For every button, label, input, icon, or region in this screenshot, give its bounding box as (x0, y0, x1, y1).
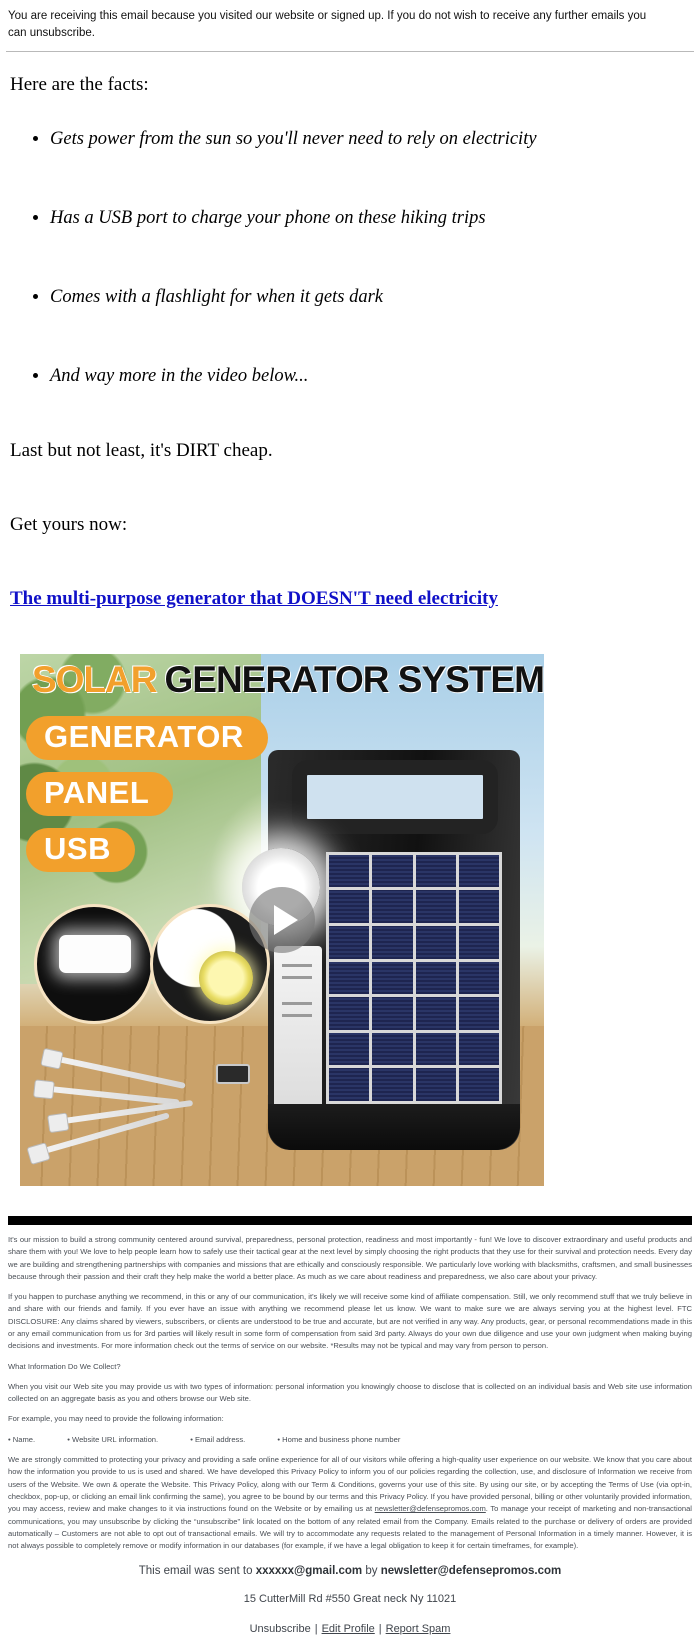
closing-text: Last but not least, it's DIRT cheap. (10, 439, 690, 464)
receiving-notice: You are receiving this email because you… (0, 0, 660, 41)
collect-heading: What Information Do We Collect? (8, 1361, 692, 1373)
sender-email: newsletter@defensepromos.com (381, 1565, 562, 1577)
edit-profile-link[interactable]: Edit Profile (322, 1623, 375, 1635)
play-button-icon[interactable] (249, 887, 315, 953)
header-divider (6, 51, 694, 52)
recipient-email: xxxxxx@gmail.com (256, 1565, 362, 1577)
list-item: Gets power from the sun so you'll never … (50, 128, 690, 151)
privacy-policy-text: We are strongly committed to protecting … (8, 1454, 692, 1552)
link-separator: | (379, 1623, 382, 1635)
list-item: And way more in the video below... (50, 365, 690, 388)
collect-item: • Website URL information. (67, 1435, 158, 1444)
report-spam-link[interactable]: Report Spam (386, 1623, 451, 1635)
facts-list: Gets power from the sun so you'll never … (10, 128, 690, 389)
list-item: Comes with a flashlight for when it gets… (50, 286, 690, 309)
footer-links: Unsubscribe|Edit Profile|Report Spam (0, 1623, 700, 1635)
solar-panel-grid (326, 852, 502, 1104)
link-separator: | (315, 1623, 318, 1635)
unit-base (268, 1104, 520, 1150)
example-intro: For example, you may need to provide the… (8, 1413, 692, 1425)
collect-body: When you visit our Web site you may prov… (8, 1381, 692, 1406)
usb-cables-graphic (28, 1046, 248, 1178)
collect-items: • Name. • Website URL information. • Ema… (8, 1434, 692, 1446)
led-panel-inset (34, 904, 154, 1024)
control-switches (274, 946, 322, 1114)
cta-intro-text: Get yours now: (10, 513, 690, 538)
banner-headline: SOLAR GENERATOR SYSTEM (20, 654, 544, 706)
carry-handle (292, 760, 498, 834)
mission-statement: It's our mission to build a strong commu… (8, 1234, 692, 1283)
collect-item: • Home and business phone number (277, 1435, 400, 1444)
lead-text: Here are the facts: (10, 73, 690, 98)
collect-item: • Name. (8, 1435, 35, 1444)
feature-pill-panel: PANEL (26, 772, 173, 816)
privacy-email-link[interactable]: newsletter@defensepromos.com (375, 1504, 486, 1513)
feature-pill-usb: USB (26, 828, 135, 872)
collect-item: • Email address. (190, 1435, 245, 1444)
unsubscribe-link[interactable]: Unsubscribe (250, 1623, 311, 1635)
sent-prefix: This email was sent to (139, 1565, 256, 1577)
feature-pill-generator: GENERATOR (26, 716, 268, 760)
sent-middle: by (362, 1565, 381, 1577)
cta-link[interactable]: The multi-purpose generator that DOESN'T… (10, 588, 498, 610)
banner-rest-words: GENERATOR SYSTEM (165, 659, 544, 701)
generator-unit-graphic (268, 750, 520, 1150)
footer-legal: It's our mission to build a strong commu… (0, 1225, 700, 1553)
mailing-address: 15 CutterMill Rd #550 Great neck Ny 1102… (0, 1593, 700, 1605)
list-item: Has a USB port to charge your phone on t… (50, 207, 690, 230)
sent-to-line: This email was sent to xxxxxx@gmail.com … (0, 1565, 700, 1577)
footer-divider-bar (8, 1216, 692, 1225)
affiliate-disclosure: If you happen to purchase anything we re… (8, 1291, 692, 1352)
email-body: Here are the facts: Gets power from the … (0, 73, 700, 1186)
banner-highlight-word: SOLAR (32, 659, 157, 701)
product-video-thumbnail[interactable]: SOLAR GENERATOR SYSTEM GENERATOR PANEL U… (20, 654, 544, 1186)
